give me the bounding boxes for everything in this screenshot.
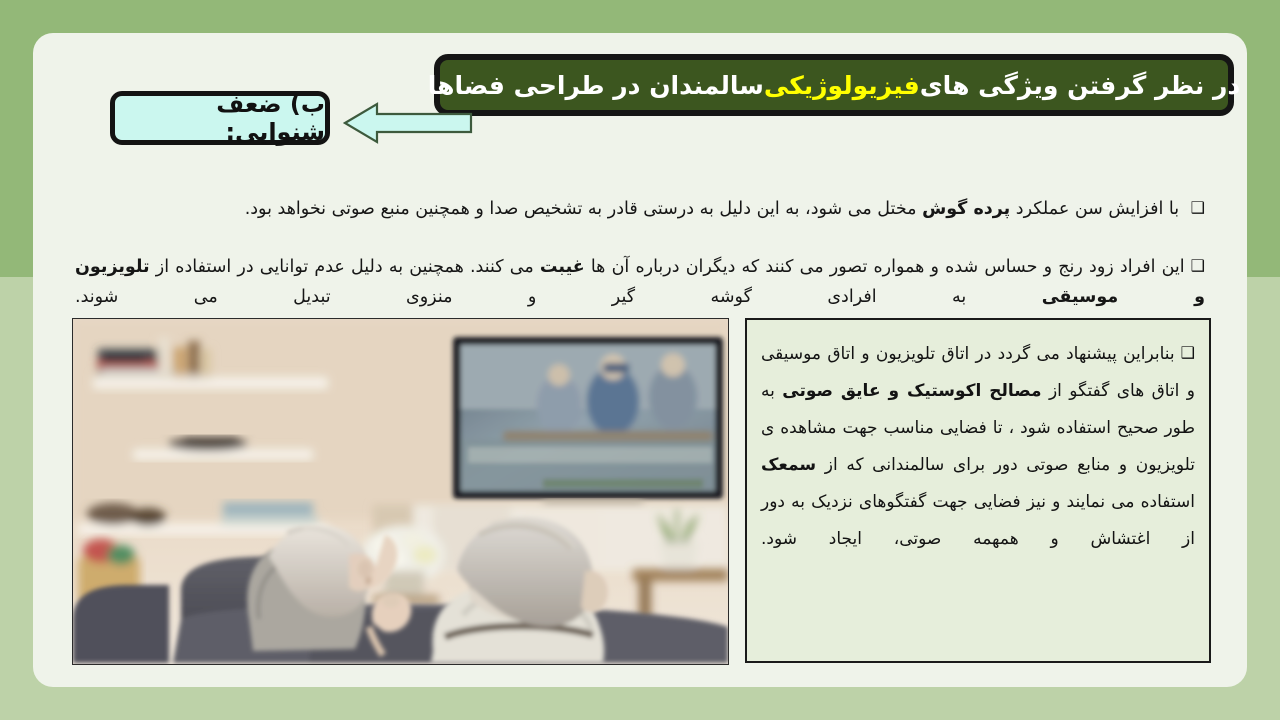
header-row: در نظر گرفتن ویژگی های فیزیولوژیکی سالمن… — [33, 33, 1247, 143]
paragraph-1-part-a: با افزایش سن عملکرد — [1010, 199, 1179, 219]
left-arrow-icon — [343, 101, 473, 145]
note-bold-2: سمعک — [761, 455, 816, 475]
note-part-c: استفاده می نمایند و نیز فضایی جهت گفتگوه… — [761, 492, 1195, 549]
bullet-paragraph-2: ❑این افراد زود رنج و حساس شده و همواره ت… — [75, 251, 1205, 312]
section-subtitle-box: ب) ضعف شنوایی: — [110, 91, 330, 145]
recommendation-note-text: ❑بنابراین پیشنهاد می گردد در اتاق تلویزی… — [761, 334, 1195, 558]
recommendation-note-box: ❑بنابراین پیشنهاد می گردد در اتاق تلویزی… — [745, 318, 1211, 663]
paragraph-1-part-b: مختل می شود، به این دلیل به درستی قادر ب… — [245, 199, 922, 219]
title-prefix: در نظر گرفتن ویژگی های — [920, 71, 1240, 100]
paragraph-2-part-b: می کنند. همچنین به دلیل عدم توانایی در ا… — [150, 257, 540, 277]
title-suffix: سالمندان در طراحی فضاها — [428, 71, 764, 100]
bullet-paragraph-1: ❑ با افزایش سن عملکرد پرده گوش مختل می ش… — [75, 193, 1205, 224]
bullet-square-icon-1: ❑ — [1191, 198, 1205, 217]
living-room-photo — [72, 318, 729, 665]
paragraph-2-part-a: این افراد زود رنج و حساس شده و همواره تص… — [585, 257, 1185, 277]
slide-root: در نظر گرفتن ویژگی های فیزیولوژیکی سالمن… — [0, 0, 1280, 720]
section-subtitle-text: ب) ضعف شنوایی: — [115, 90, 325, 146]
title-highlight-word: فیزیولوژیکی — [764, 71, 920, 100]
paragraph-2-bold-1: غیبت — [540, 257, 585, 277]
paragraph-1-bold-1: پرده گوش — [922, 199, 1010, 219]
bullet-square-icon-2: ❑ — [1191, 256, 1205, 275]
bullet-square-icon-3: ❑ — [1181, 343, 1195, 362]
paragraph-2-part-c: به افرادی گوشه گیر و منزوی تبدیل می شوند… — [75, 287, 1042, 307]
note-bold-1: مصالح اکوستیک و عایق صوتی — [782, 381, 1041, 401]
content-card: در نظر گرفتن ویژگی های فیزیولوژیکی سالمن… — [33, 33, 1247, 687]
slide-title-box: در نظر گرفتن ویژگی های فیزیولوژیکی سالمن… — [434, 54, 1234, 116]
